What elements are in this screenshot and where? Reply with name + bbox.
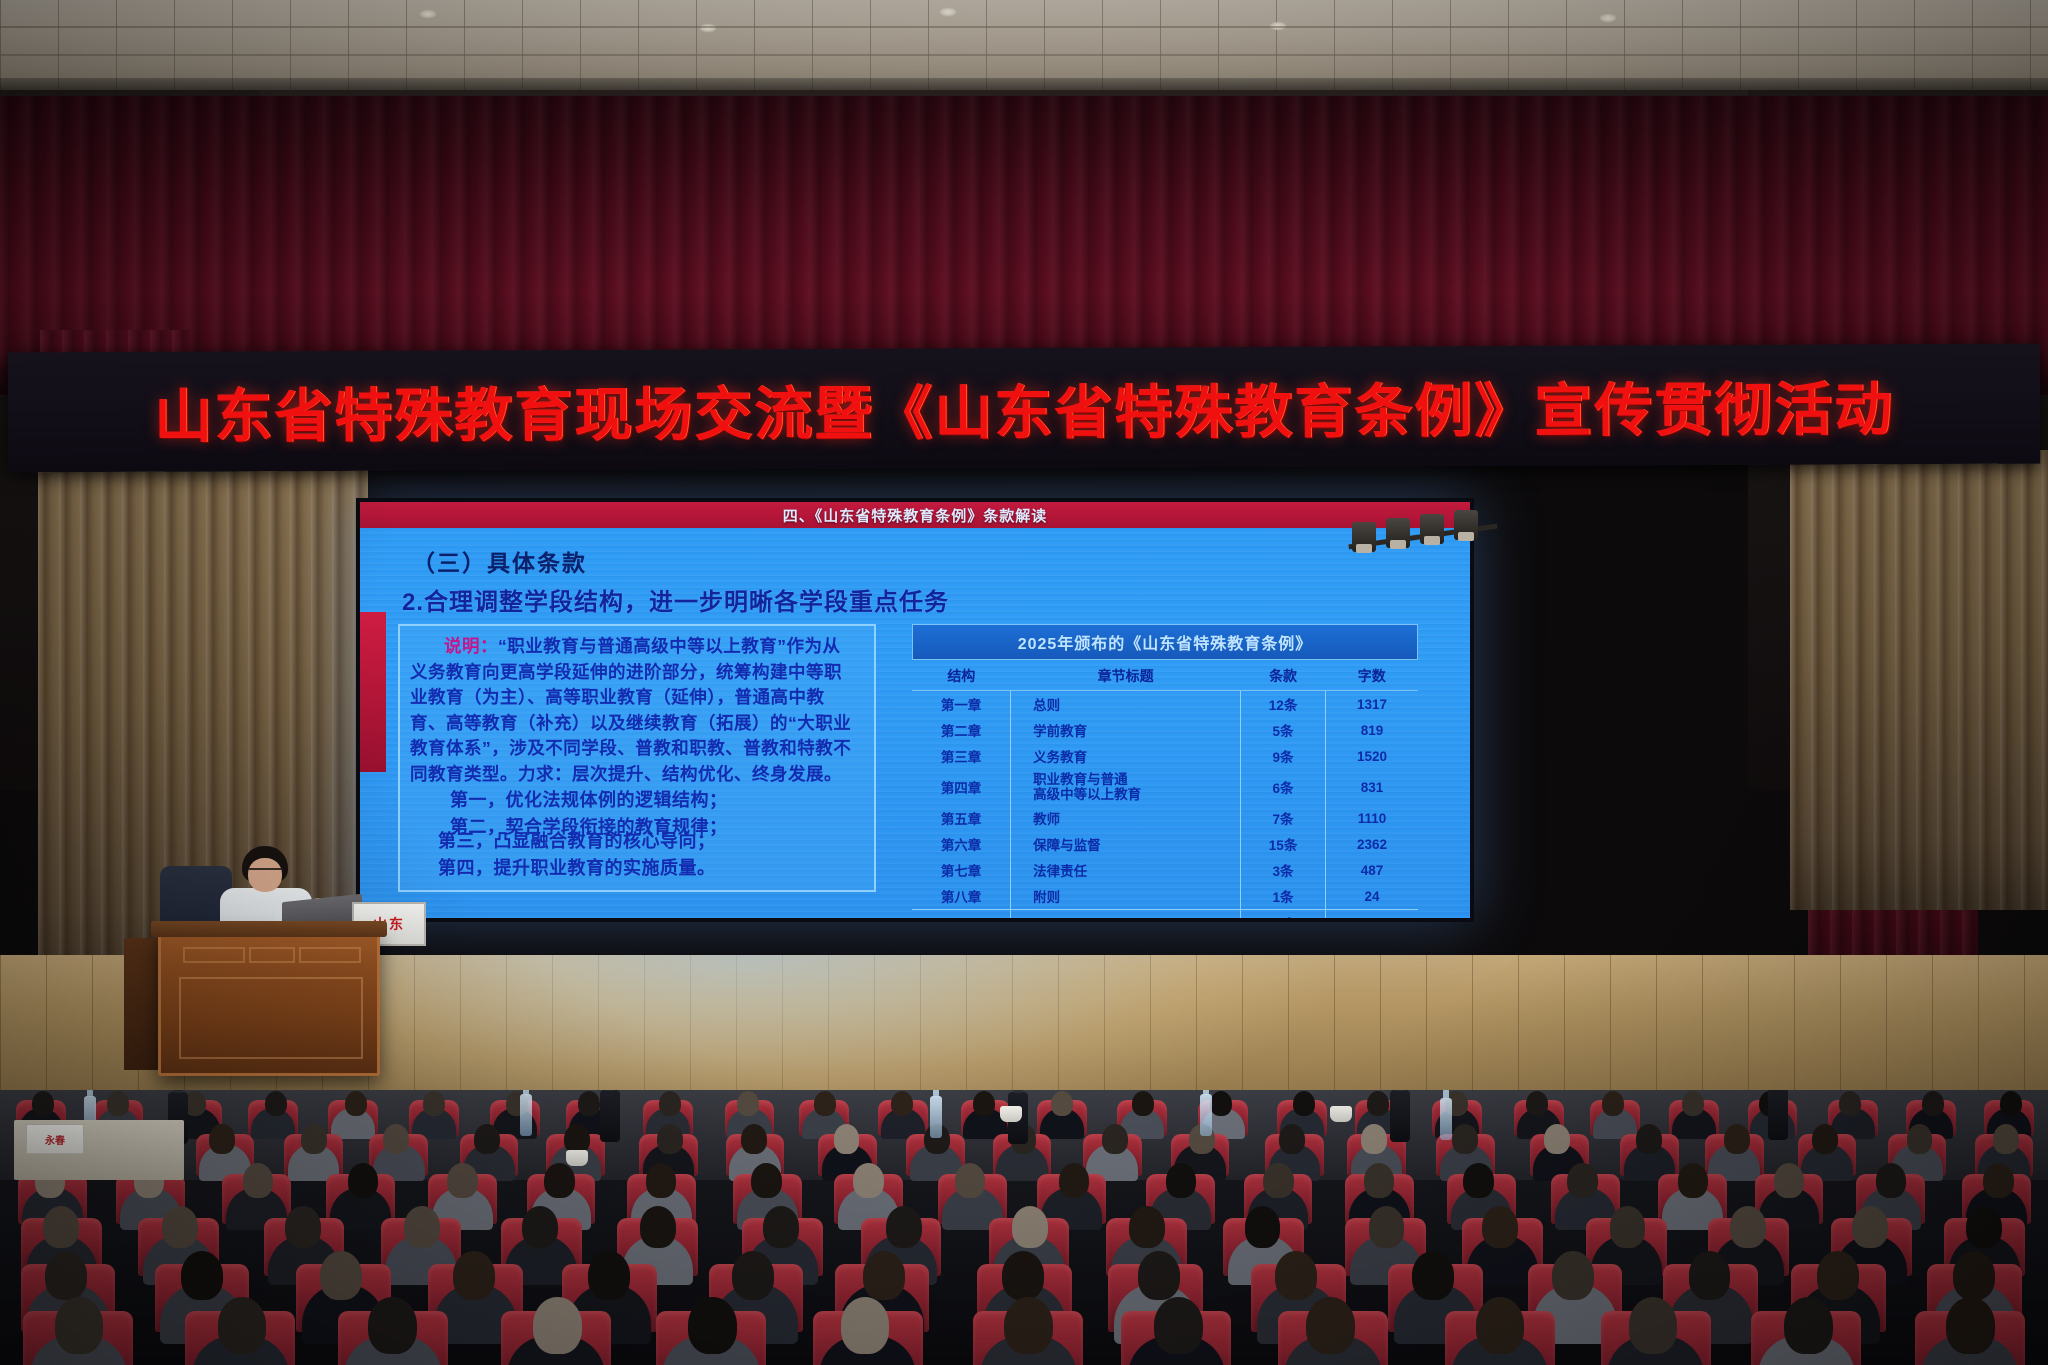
audience-thermos — [1768, 1090, 1788, 1140]
table-cell-chapter: 第三章 — [912, 743, 1011, 769]
table-cell-count: 3条 — [1241, 857, 1326, 883]
table-cell-words: 1110 — [1325, 805, 1418, 831]
table-row: 第三章义务教育9条1520 — [912, 743, 1418, 769]
ceiling-light — [1600, 14, 1616, 22]
table-total-row: 58条8571 — [912, 910, 1418, 919]
audience-person-head — [1966, 1206, 2002, 1247]
audience-person-head — [218, 1297, 267, 1353]
audience-person-head — [1629, 1297, 1678, 1353]
audience-person-head — [814, 1091, 836, 1117]
table-cell-title: 总则 — [1011, 691, 1241, 718]
table-row: 第六章保障与监督15条2362 — [912, 831, 1418, 857]
audience-person-head — [45, 1251, 87, 1299]
table-header-count: 条款 — [1241, 662, 1326, 691]
audience-person-head — [1476, 1297, 1525, 1353]
table-cell-count: 6条 — [1241, 769, 1326, 805]
audience-cup — [566, 1150, 588, 1166]
numbered-item-1: 第一，优化法规体例的逻辑结构； — [410, 787, 864, 814]
slide-title-bar: 四、《山东省特殊教育条例》条款解读 — [360, 502, 1470, 528]
table-cell-title: 保障与监督 — [1011, 831, 1241, 857]
total-cell-count: 58条 — [1241, 910, 1326, 919]
audience-person-head — [1774, 1163, 1804, 1198]
ceiling-light — [420, 10, 436, 18]
audience-person-head — [1059, 1163, 1089, 1198]
audience-person-head — [522, 1206, 558, 1247]
table-cell-chapter: 第四章 — [912, 769, 1011, 805]
audience-person-head — [544, 1163, 574, 1198]
audience-person-head — [1012, 1206, 1048, 1247]
audience-person-head — [1602, 1091, 1624, 1117]
table-header-title: 章节标题 — [1011, 662, 1241, 691]
audience-person-head — [1245, 1206, 1281, 1247]
explanation-text-1: “职业教育与普通高级中等以上教育”作为从 — [498, 636, 841, 656]
table-cell-words: 1520 — [1325, 743, 1418, 769]
table-cell-title: 附则 — [1011, 883, 1241, 910]
audience-person-head — [1993, 1124, 2019, 1154]
audience-person-head — [1452, 1124, 1478, 1154]
table-cell-words: 2362 — [1325, 831, 1418, 857]
slide-body: （三）具体条款 2.合理调整学段结构，进一步明晰各学段重点任务 说明：“职业教育… — [360, 528, 1470, 918]
audience-bottle — [1440, 1098, 1452, 1140]
explanation-line-6: 同教育类型。力求：层次提升、结构优化、终身发展。 — [410, 762, 864, 788]
audience-person-head — [578, 1091, 600, 1117]
audience-person-head — [2000, 1091, 2022, 1117]
table-cell-words: 487 — [1325, 857, 1418, 883]
table-cell-chapter: 第五章 — [912, 805, 1011, 831]
audience-person-head — [1364, 1163, 1394, 1198]
audience-person-head — [1636, 1124, 1662, 1154]
projection-screen: 四、《山东省特殊教育条例》条款解读 （三）具体条款 2.合理调整学段结构，进一步… — [356, 498, 1474, 922]
stage-floor-screen-reflection — [300, 955, 1200, 1075]
explanation-line-5: 教育体系”，涉及不同学段、普教和职教、普教和特教不 — [410, 736, 864, 762]
table-cell-count: 12条 — [1241, 691, 1326, 718]
audience-person-head — [107, 1091, 129, 1117]
audience-person-head — [1552, 1251, 1594, 1299]
audience-person-head — [891, 1091, 913, 1117]
explanation-label: 说明： — [444, 636, 498, 656]
table-cell-count: 7条 — [1241, 805, 1326, 831]
table-cell-title: 学前教育 — [1011, 717, 1241, 743]
audience-person-head — [1922, 1091, 1944, 1117]
audience-person-head — [1132, 1091, 1154, 1117]
explanation-line-2: 义务教育向更高学段延伸的进阶部分，统筹构建中等职 — [410, 660, 864, 686]
audience-person-head — [55, 1297, 104, 1353]
audience-person-head — [732, 1251, 774, 1299]
table-cell-words: 831 — [1325, 769, 1418, 805]
audience-person-head — [345, 1091, 367, 1117]
audience-person-head — [301, 1124, 327, 1154]
slide-section-heading: （三）具体条款 — [412, 544, 587, 578]
audience-bottle — [1200, 1094, 1212, 1136]
event-banner-text: 山东省特殊教育现场交流暨《山东省特殊教育条例》宣传贯彻活动 — [154, 362, 1894, 454]
audience-person-head — [368, 1297, 417, 1353]
audience-person-head — [1784, 1297, 1833, 1353]
audience-person-head — [1567, 1163, 1597, 1198]
audience-person-head — [1138, 1251, 1180, 1299]
audience-person-head — [737, 1091, 759, 1117]
ceiling-light — [940, 8, 956, 16]
table-cell-title: 教师 — [1011, 805, 1241, 831]
audience-person-head — [1812, 1124, 1838, 1154]
audience-bottle — [520, 1094, 532, 1136]
audience-person-head — [1610, 1206, 1646, 1247]
audience-person-head — [1004, 1297, 1053, 1353]
table-cell-count: 1条 — [1241, 883, 1326, 910]
audience-bottle — [930, 1096, 942, 1138]
audience-person-head — [841, 1297, 890, 1353]
audience-person-head — [265, 1091, 287, 1117]
table-header-row: 结构 章节标题 条款 字数 — [912, 662, 1418, 691]
audience-person-head — [1154, 1297, 1203, 1353]
podium-side-panel — [124, 938, 162, 1070]
audience-person-head — [1482, 1206, 1518, 1247]
audience-person-head — [383, 1124, 409, 1154]
audience-person-head — [209, 1124, 235, 1154]
audience-person-head — [1852, 1206, 1888, 1247]
table-header-words: 字数 — [1325, 662, 1418, 691]
table-header-chapter: 结构 — [912, 662, 1011, 691]
audience-person-head — [404, 1206, 440, 1247]
audience-person-head — [1544, 1124, 1570, 1154]
audience-person-head — [423, 1091, 445, 1117]
table-cell-title: 职业教育与普通高级中等以上教育 — [1011, 769, 1241, 805]
event-banner: 山东省特殊教育现场交流暨《山东省特殊教育条例》宣传贯彻活动 — [8, 344, 2041, 473]
table-cell-chapter: 第六章 — [912, 831, 1011, 857]
audience-person-head — [751, 1163, 781, 1198]
audience-person-head — [1361, 1124, 1387, 1154]
audience-person-head — [1730, 1206, 1766, 1247]
table-cell-words: 24 — [1325, 883, 1418, 910]
audience-cup — [1330, 1106, 1352, 1122]
audience-person-head — [1166, 1163, 1196, 1198]
table-cell-chapter: 第七章 — [912, 857, 1011, 883]
table-cell-chapter: 第二章 — [912, 717, 1011, 743]
audience-person-head — [285, 1206, 321, 1247]
audience-person-head — [1463, 1163, 1493, 1198]
table-row: 第七章法律责任3条487 — [912, 857, 1418, 883]
audience-person-head — [1263, 1163, 1293, 1198]
audience-person-head — [181, 1251, 223, 1299]
table-cell-count: 5条 — [1241, 717, 1326, 743]
table-row: 第四章职业教育与普通高级中等以上教育6条831 — [912, 769, 1418, 805]
audience-person-head — [1412, 1251, 1454, 1299]
audience-person-head — [1817, 1251, 1859, 1299]
table-cell-count: 15条 — [1241, 831, 1326, 857]
audience-person-head — [657, 1124, 683, 1154]
explanation-line-4: 育、高等教育（补充）以及继续教育（拓展）的“大职业 — [410, 711, 864, 737]
table-cell-words: 819 — [1325, 717, 1418, 743]
audience-person-head — [243, 1163, 273, 1198]
audience-person-head — [1051, 1091, 1073, 1117]
audience-person-head — [1678, 1163, 1708, 1198]
conference-hall-photo: 四、《山东省特殊教育条例》条款解读 （三）具体条款 2.合理调整学段结构，进一步… — [0, 0, 2048, 1365]
audience-person-head — [1689, 1251, 1731, 1299]
table-row: 第八章附则1条24 — [912, 883, 1418, 910]
explanation-line-1: 说明：“职业教育与普通高级中等以上教育”作为从 — [410, 634, 864, 660]
audience-cup — [1000, 1106, 1022, 1122]
audience-person-head — [1953, 1251, 1995, 1299]
audience-person-head — [1306, 1297, 1355, 1353]
audience-person-head — [1946, 1297, 1995, 1353]
audience-thermos — [1390, 1090, 1410, 1142]
numbered-item-3: 第三，凸显融合教育的核心导向； — [398, 828, 876, 855]
audience-person-head — [1839, 1091, 1861, 1117]
numbered-item-4: 第四，提升职业教育的实施质量。 — [398, 855, 876, 882]
audience-person-head — [688, 1297, 737, 1353]
audience-person-head — [1682, 1091, 1704, 1117]
podium — [158, 930, 380, 1076]
audience-person-head — [1129, 1206, 1165, 1247]
explanation-line-3: 业教育（为主）、高等职业教育（延伸），普通高中教 — [410, 685, 864, 711]
audience-person-head — [320, 1251, 362, 1299]
audience-person-head — [1876, 1163, 1906, 1198]
audience-person-head — [1367, 1091, 1389, 1117]
audience-person-head — [1724, 1124, 1750, 1154]
table-row: 第一章总则12条1317 — [912, 691, 1418, 718]
audience-person-head — [640, 1206, 676, 1247]
total-cell-words: 8571 — [1325, 910, 1418, 919]
audience-person-head — [1983, 1163, 2013, 1198]
audience-person-head — [533, 1297, 582, 1353]
table-cell-words: 1317 — [1325, 691, 1418, 718]
audience-person-head — [646, 1163, 676, 1198]
audience-person-head — [741, 1124, 767, 1154]
table-row: 第五章教师7条1110 — [912, 805, 1418, 831]
audience-person-head — [447, 1163, 477, 1198]
audience-person-head — [32, 1091, 54, 1117]
audience-person-head — [588, 1251, 630, 1299]
audience-person-head — [1275, 1251, 1317, 1299]
table-cell-title: 义务教育 — [1011, 743, 1241, 769]
audience-person-head — [863, 1251, 905, 1299]
slide-point-heading: 2.合理调整学段结构，进一步明晰各学段重点任务 — [402, 582, 949, 617]
front-table-nameplate: 永春 — [26, 1124, 84, 1154]
audience-person-head — [1002, 1251, 1044, 1299]
audience-person-head — [973, 1091, 995, 1117]
table-cell-title: 法律责任 — [1011, 857, 1241, 883]
audience-person-head — [348, 1163, 378, 1198]
table-cell-chapter: 第八章 — [912, 883, 1011, 910]
stage-light-rig — [1348, 500, 1508, 590]
stage-curtain-right — [1790, 450, 2048, 910]
audience-person-head — [474, 1124, 500, 1154]
table-cell-chapter: 第一章 — [912, 691, 1011, 718]
audience-person-head — [1369, 1206, 1405, 1247]
audience-thermos — [600, 1090, 620, 1142]
audience-person-head — [853, 1163, 883, 1198]
audience-person-head — [162, 1206, 198, 1247]
audience-person-head — [763, 1206, 799, 1247]
table-cell-count: 9条 — [1241, 743, 1326, 769]
front-table-nameplate-text: 永春 — [45, 1132, 65, 1147]
audience-person-head — [1102, 1124, 1128, 1154]
audience-person-head — [1210, 1091, 1232, 1117]
audience-person-head — [1907, 1124, 1933, 1154]
audience-person-head — [955, 1163, 985, 1198]
audience-person-head — [1279, 1124, 1305, 1154]
audience-person-head — [834, 1124, 860, 1154]
slide-table-title: 2025年颁布的《山东省特殊教育条例》 — [912, 624, 1418, 660]
table-row: 第二章学前教育5条819 — [912, 717, 1418, 743]
audience-person-head — [1293, 1091, 1315, 1117]
audience-person-head — [659, 1091, 681, 1117]
audience-person-head — [886, 1206, 922, 1247]
total-cell-chapter — [912, 910, 1011, 919]
presentation-slide: 四、《山东省特殊教育条例》条款解读 （三）具体条款 2.合理调整学段结构，进一步… — [360, 502, 1470, 918]
audience-area — [0, 1090, 2048, 1365]
audience-person-head — [43, 1206, 79, 1247]
slide-table-container: 2025年颁布的《山东省特殊教育条例》 结构 章节标题 条款 字数 第一章总则1… — [912, 624, 1418, 918]
audience-person-head — [1526, 1091, 1548, 1117]
regulation-structure-table: 结构 章节标题 条款 字数 第一章总则12条1317第二章学前教育5条819第三… — [912, 662, 1418, 918]
audience-person-head — [453, 1251, 495, 1299]
total-cell-title — [1011, 910, 1241, 919]
